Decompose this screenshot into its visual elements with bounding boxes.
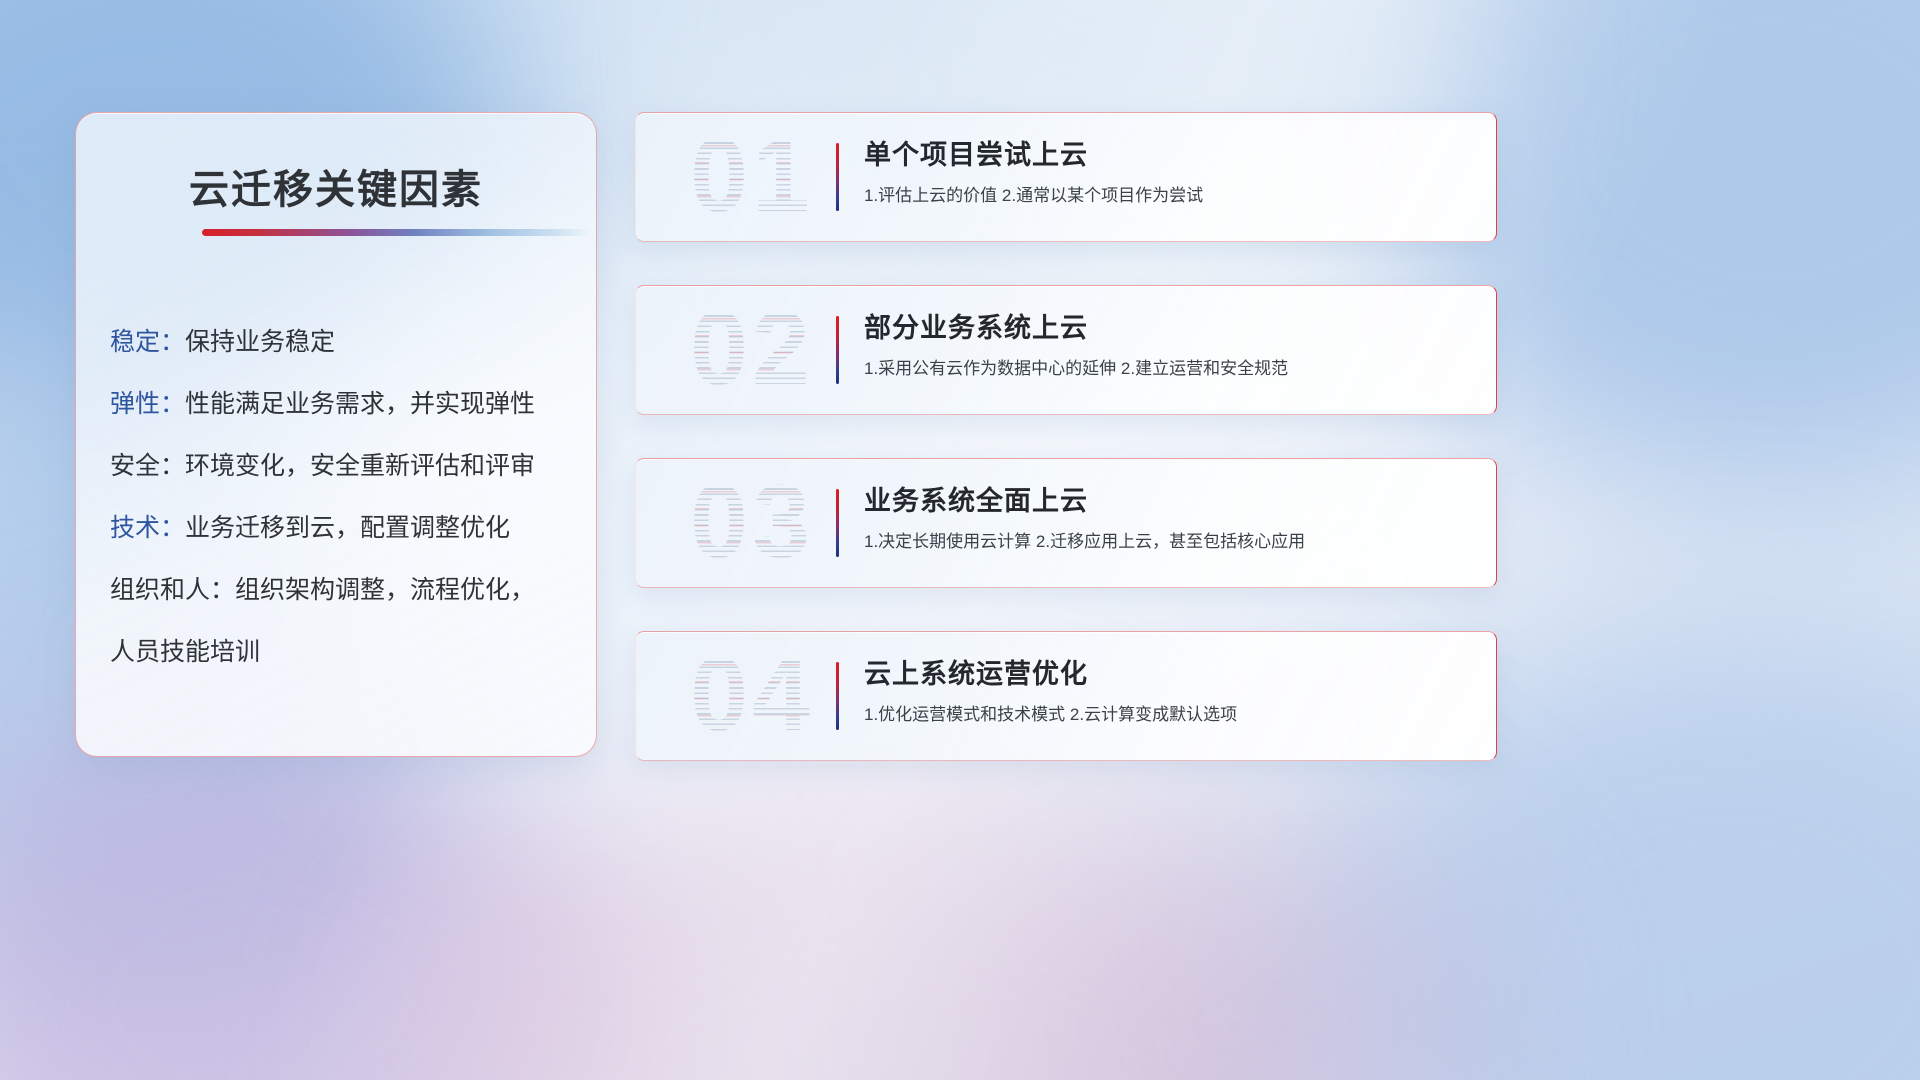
list-item: 技术：业务迁移到云，配置调整优化 bbox=[110, 497, 572, 559]
accent-divider-bar bbox=[836, 143, 839, 211]
factor-label: 组织和人： bbox=[110, 576, 235, 604]
stage-card-body: 云上系统运营优化 1.优化运营模式和技术模式 2.云计算变成默认选项 bbox=[864, 654, 1474, 730]
factor-value: 组织架构调整，流程优化， bbox=[235, 576, 535, 604]
stage-subtitle: 1.评估上云的价值 2.通常以某个项目作为尝试 bbox=[864, 181, 1474, 211]
stage-number-01: 01 bbox=[662, 112, 842, 241]
stage-title: 单个项目尝试上云 bbox=[864, 135, 1474, 175]
factor-value: 保持业务稳定 bbox=[185, 328, 335, 356]
list-item: 安全：环境变化，安全重新评估和评审 bbox=[110, 435, 572, 497]
factor-value: 环境变化，安全重新评估和评审 bbox=[185, 452, 535, 480]
key-factors-list: 稳定：保持业务稳定 弹性：性能满足业务需求，并实现弹性 安全：环境变化，安全重新… bbox=[110, 311, 572, 683]
accent-divider-bar bbox=[836, 662, 839, 730]
stage-subtitle: 1.采用公有云作为数据中心的延伸 2.建立运营和安全规范 bbox=[864, 354, 1474, 384]
stage-card-body: 单个项目尝试上云 1.评估上云的价值 2.通常以某个项目作为尝试 bbox=[864, 135, 1474, 211]
stage-card-body: 部分业务系统上云 1.采用公有云作为数据中心的延伸 2.建立运营和安全规范 bbox=[864, 308, 1474, 384]
stage-subtitle: 1.决定长期使用云计算 2.迁移应用上云，甚至包括核心应用 bbox=[864, 527, 1474, 557]
page-title: 云迁移关键因素 bbox=[76, 157, 596, 215]
stage-number-02: 02 bbox=[662, 285, 842, 414]
factor-value: 性能满足业务需求，并实现弹性 bbox=[185, 390, 535, 418]
list-item: 人员技能培训 bbox=[110, 621, 572, 683]
stage-card[interactable]: 03 业务系统全面上云 1.决定长期使用云计算 2.迁移应用上云，甚至包括核心应… bbox=[635, 458, 1497, 588]
stage-card[interactable]: 02 部分业务系统上云 1.采用公有云作为数据中心的延伸 2.建立运营和安全规范 bbox=[635, 285, 1497, 415]
key-factors-panel: 云迁移关键因素 稳定：保持业务稳定 弹性：性能满足业务需求，并实现弹性 安全：环… bbox=[75, 112, 597, 757]
stage-number-04: 04 bbox=[662, 631, 842, 760]
title-underline-gradient bbox=[202, 229, 590, 236]
stage-card[interactable]: 01 单个项目尝试上云 1.评估上云的价值 2.通常以某个项目作为尝试 bbox=[635, 112, 1497, 242]
stage-cards-list: 01 单个项目尝试上云 1.评估上云的价值 2.通常以某个项目作为尝试 02 部… bbox=[635, 112, 1495, 804]
stage-title: 部分业务系统上云 bbox=[864, 308, 1474, 348]
list-item: 稳定：保持业务稳定 bbox=[110, 311, 572, 373]
list-item: 弹性：性能满足业务需求，并实现弹性 bbox=[110, 373, 572, 435]
factor-value: 业务迁移到云，配置调整优化 bbox=[185, 514, 510, 542]
stage-number-03: 03 bbox=[662, 458, 842, 587]
factor-label: 稳定： bbox=[110, 328, 185, 356]
accent-divider-bar bbox=[836, 316, 839, 384]
stage-card[interactable]: 04 云上系统运营优化 1.优化运营模式和技术模式 2.云计算变成默认选项 bbox=[635, 631, 1497, 761]
factor-label: 弹性： bbox=[110, 390, 185, 418]
stage-title: 业务系统全面上云 bbox=[864, 481, 1474, 521]
accent-divider-bar bbox=[836, 489, 839, 557]
factor-label: 技术： bbox=[110, 514, 185, 542]
stage-subtitle: 1.优化运营模式和技术模式 2.云计算变成默认选项 bbox=[864, 700, 1474, 730]
stage-card-body: 业务系统全面上云 1.决定长期使用云计算 2.迁移应用上云，甚至包括核心应用 bbox=[864, 481, 1474, 557]
stage-title: 云上系统运营优化 bbox=[864, 654, 1474, 694]
factor-label: 安全： bbox=[110, 452, 185, 480]
factor-value: 人员技能培训 bbox=[110, 638, 260, 666]
list-item: 组织和人：组织架构调整，流程优化， bbox=[110, 559, 572, 621]
